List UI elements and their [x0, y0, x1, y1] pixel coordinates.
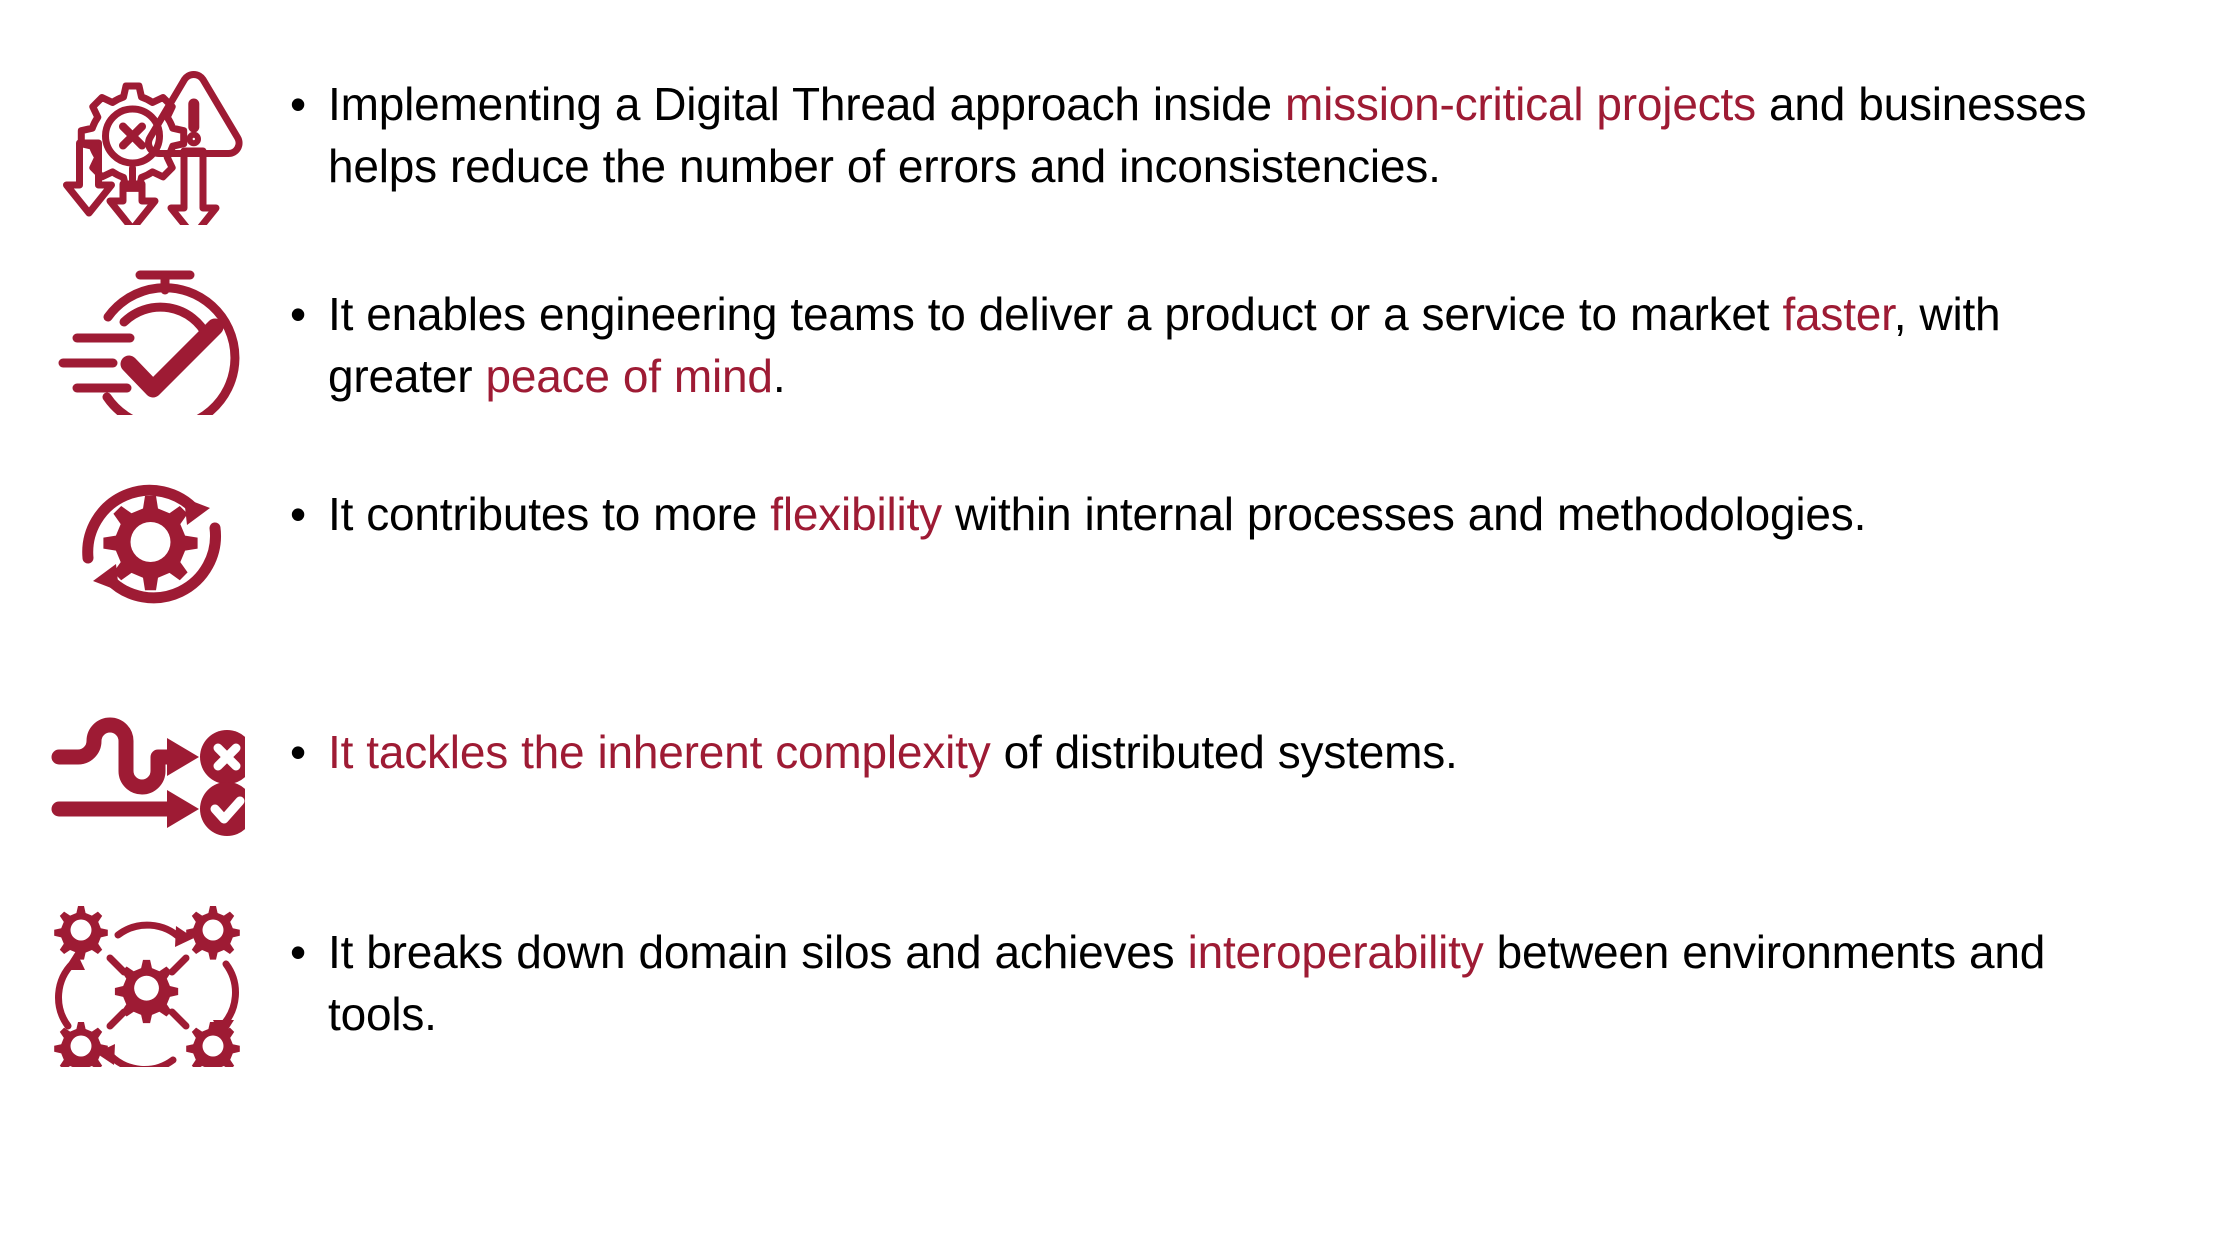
highlight-segment: mission-critical projects: [1285, 78, 1756, 130]
text-cell-1: • Implementing a Digital Thread approach…: [290, 0, 2240, 197]
icon-cell-3: [0, 440, 290, 622]
bullet-marker: •: [290, 284, 328, 346]
connected-gears-network-icon: [50, 902, 240, 1067]
bullet-marker: •: [290, 74, 328, 136]
list-item: • Implementing a Digital Thread approach…: [0, 0, 2240, 240]
icon-cell-4: [0, 670, 290, 837]
bullet-text-5: It breaks down domain silos and achieves…: [328, 922, 2150, 1045]
text-segment: within internal processes and methodolog…: [942, 488, 1866, 540]
text-segment: It contributes to more: [328, 488, 770, 540]
bullet-marker: •: [290, 722, 328, 784]
wavy-vs-straight-arrow-cross-check-icon: [45, 702, 245, 837]
list-item: • It tackles the inherent complexity of …: [0, 670, 2240, 880]
highlight-segment: It tackles the inherent complexity: [328, 726, 991, 778]
highlight-segment: faster: [1782, 288, 1893, 340]
gear-top-left: [54, 906, 108, 960]
gear-top-right: [186, 906, 240, 960]
bullet-marker: •: [290, 922, 328, 984]
gear-bottom-right: [186, 1022, 240, 1067]
bullet-list: • Implementing a Digital Thread approach…: [0, 0, 2240, 1260]
list-item: • It contributes to more flexibility wit…: [0, 440, 2240, 670]
icon-cell-1: [0, 0, 290, 225]
bullet-text-3: It contributes to more flexibility withi…: [328, 484, 2150, 546]
text-segment: It enables engineering teams to deliver …: [328, 288, 1782, 340]
gear-error-warning-down-arrows-icon: [38, 50, 253, 225]
slide-canvas: • Implementing a Digital Thread approach…: [0, 0, 2240, 1260]
bullet-text-4: It tackles the inherent complexity of di…: [328, 722, 2150, 784]
text-cell-2: • It enables engineering teams to delive…: [290, 240, 2240, 407]
gear-bottom-left: [54, 1022, 108, 1067]
text-cell-3: • It contributes to more flexibility wit…: [290, 440, 2240, 546]
bullet-text-1: Implementing a Digital Thread approach i…: [328, 74, 2150, 197]
highlight-segment: flexibility: [770, 488, 942, 540]
text-segment: It breaks down domain silos and achieves: [328, 926, 1188, 978]
bullet-marker: •: [290, 484, 328, 546]
list-item: • It enables engineering teams to delive…: [0, 240, 2240, 440]
bullet-text-2: It enables engineering teams to deliver …: [328, 284, 2150, 407]
highlight-segment: interoperability: [1188, 926, 1484, 978]
text-cell-4: • It tackles the inherent complexity of …: [290, 670, 2240, 784]
highlight-segment: peace of mind: [485, 350, 772, 402]
gear-circular-arrows-icon: [55, 462, 235, 622]
text-segment: Implementing a Digital Thread approach i…: [328, 78, 1285, 130]
icon-cell-5: [0, 880, 290, 1067]
list-item: • It breaks down domain silos and achiev…: [0, 880, 2240, 1130]
text-segment: of distributed systems.: [991, 726, 1458, 778]
text-cell-5: • It breaks down domain silos and achiev…: [290, 880, 2240, 1045]
text-segment: .: [773, 350, 786, 402]
icon-cell-2: [0, 240, 290, 415]
stopwatch-checkmark-speed-icon: [45, 260, 245, 415]
